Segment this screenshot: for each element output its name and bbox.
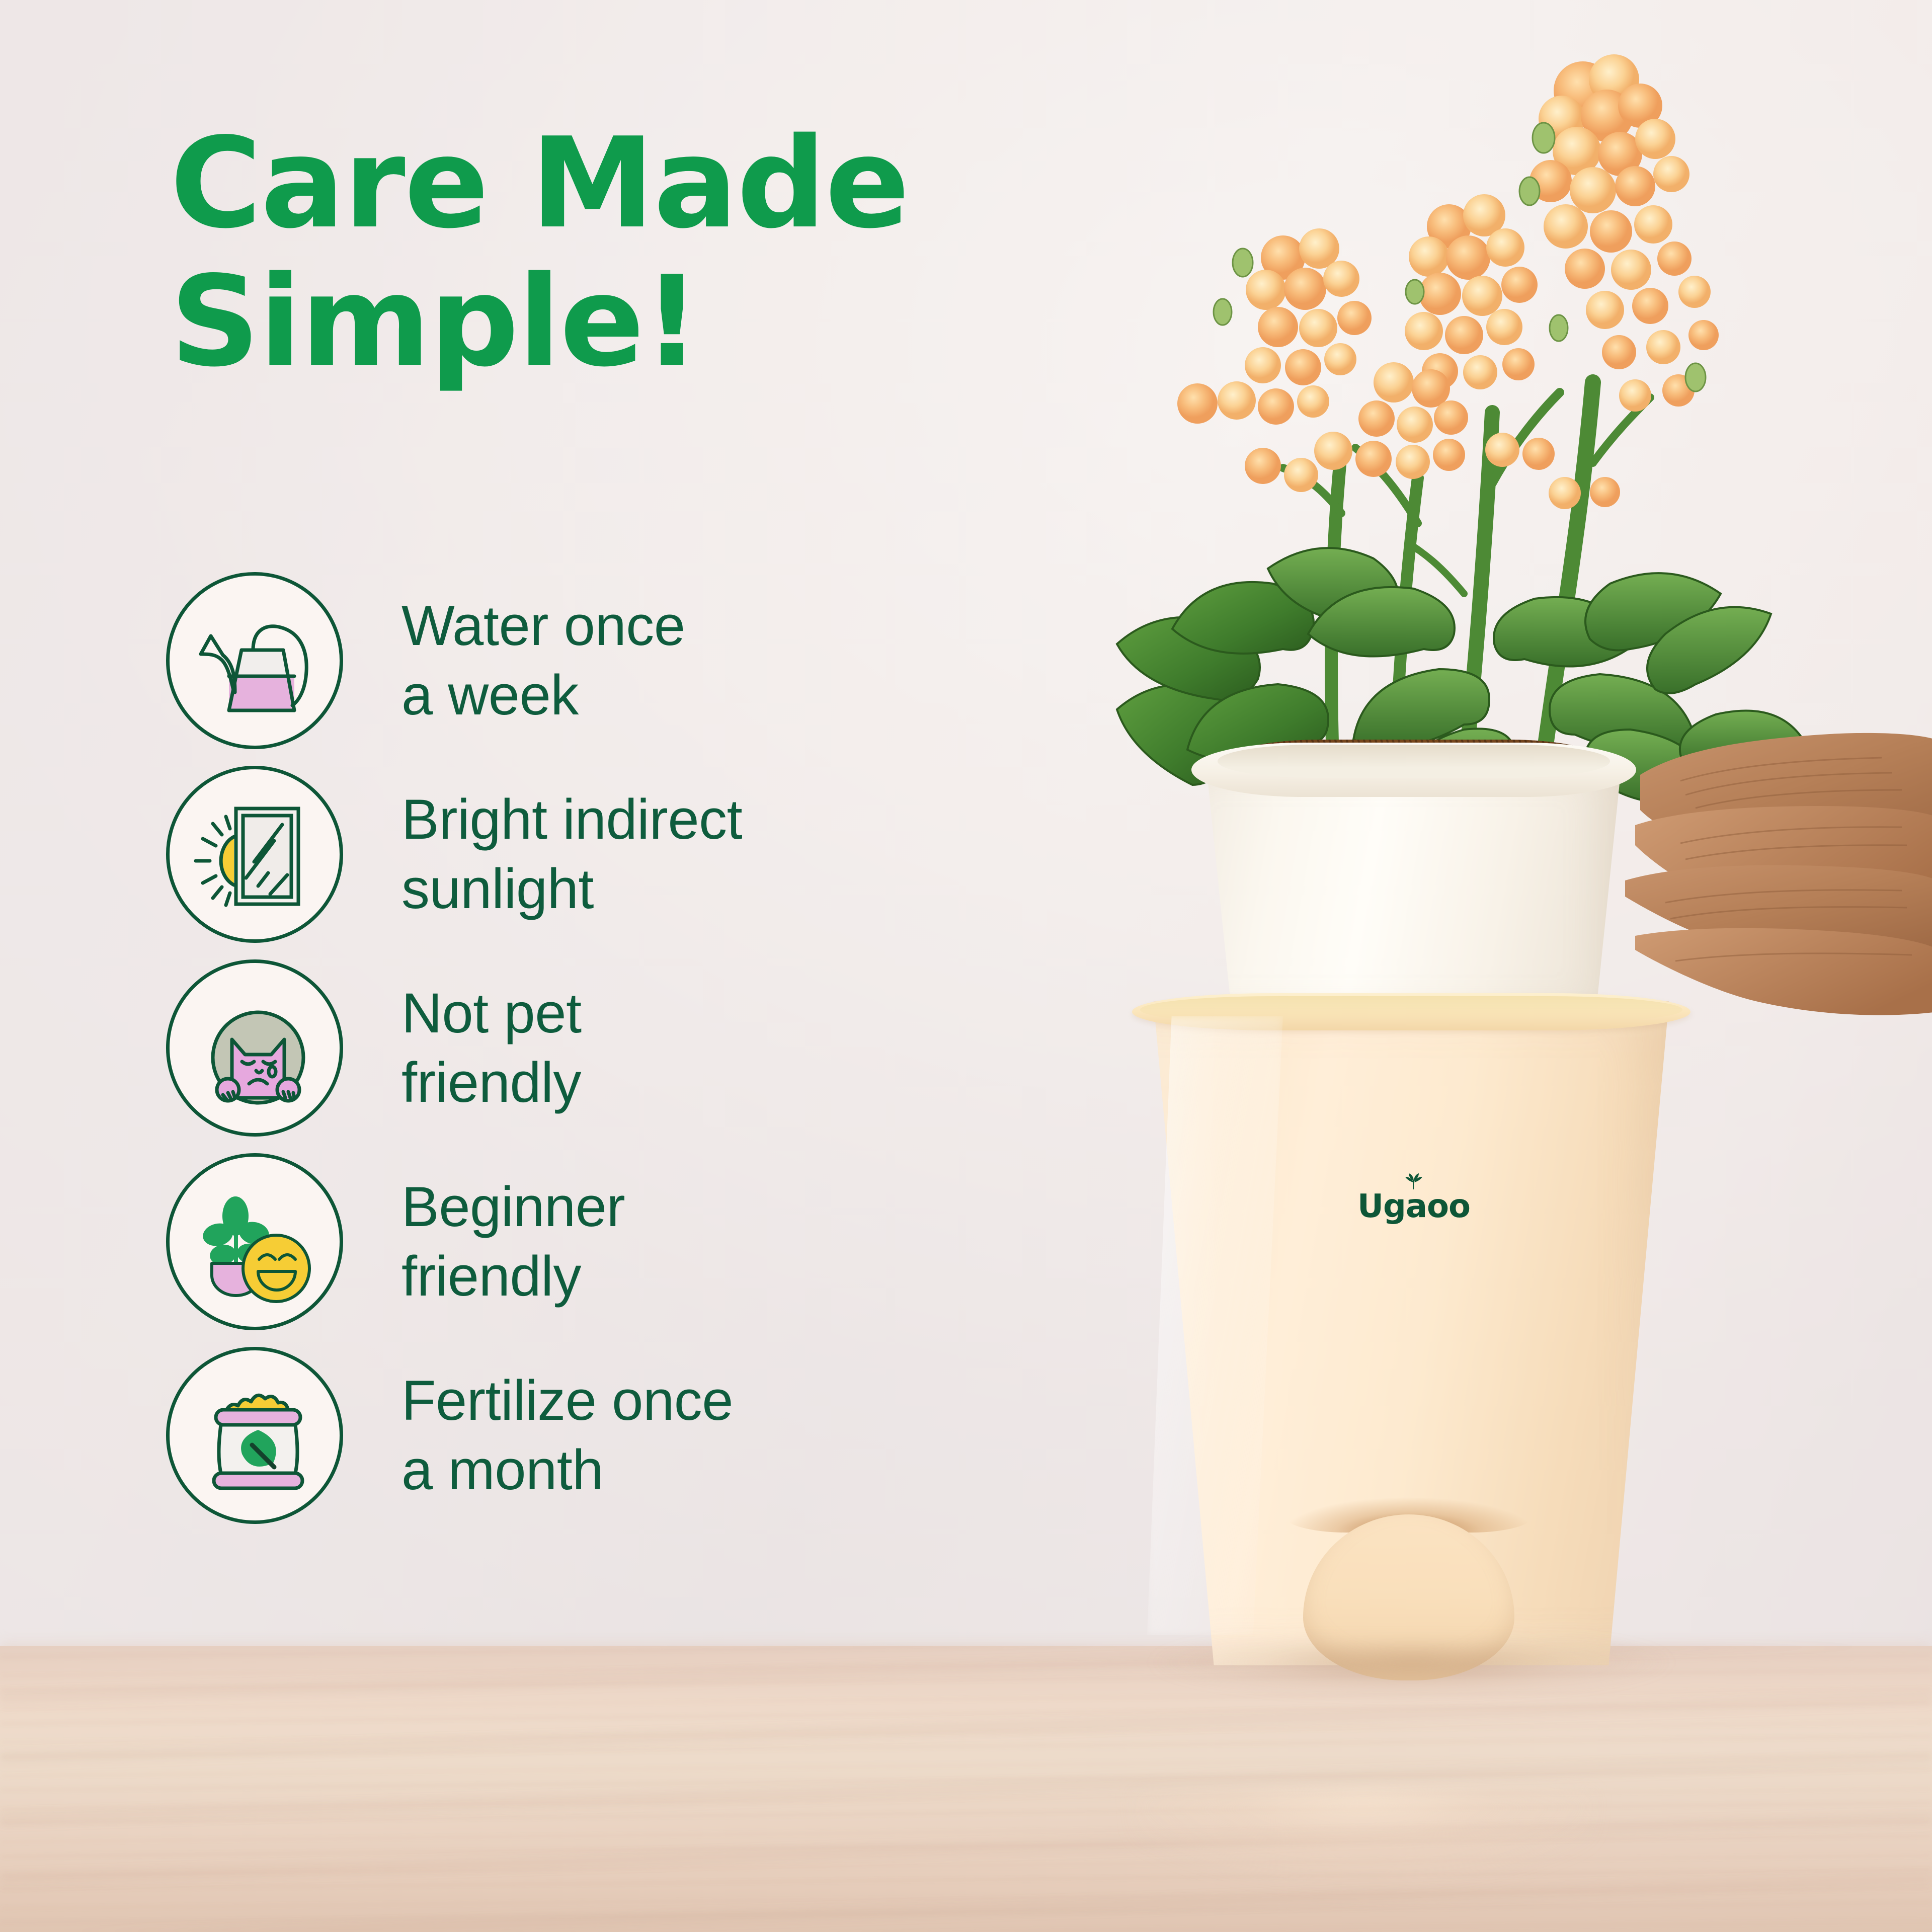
care-row-beginner: Beginner friendly — [166, 1145, 1046, 1338]
care-label-fertilize: Fertilize once a month — [401, 1366, 733, 1505]
care-row-water: Water once a week — [166, 563, 1046, 757]
care-row-pet: Not pet friendly — [166, 951, 1046, 1145]
care-row-fertilize: Fertilize once a month — [166, 1338, 1046, 1532]
outer-pot-rim-shadow — [1140, 996, 1682, 1023]
fertilizer-bag-icon — [166, 1347, 343, 1524]
care-label-beginner: Beginner friendly — [401, 1172, 625, 1311]
care-label-pet: Not pet friendly — [401, 979, 582, 1117]
product-photo: Ugaoo — [981, 191, 1932, 1841]
sad-cat-icon — [166, 959, 343, 1137]
inner-nursery-pot — [1197, 765, 1630, 1016]
sprout-icon — [1403, 1172, 1425, 1189]
inner-pot-rim-inner — [1218, 745, 1610, 778]
care-infographic-canvas: Care Made Simple! Water once a week — [0, 0, 1932, 1932]
ugaoo-logo: Ugaoo — [1348, 1172, 1479, 1238]
care-list: Water once a week — [166, 563, 1046, 1532]
watering-can-icon — [166, 572, 343, 749]
care-label-water: Water once a week — [401, 591, 685, 730]
pot-base-shadow — [1147, 1640, 1675, 1696]
potted-plant-smiley-icon — [166, 1153, 343, 1330]
window-sunlight-icon — [166, 766, 343, 943]
brand-wordmark: Ugaoo — [1348, 1190, 1479, 1223]
page-title: Care Made Simple! — [170, 115, 995, 392]
care-row-sunlight: Bright indirect sunlight — [166, 757, 1046, 951]
care-label-sunlight: Bright indirect sunlight — [401, 785, 742, 924]
